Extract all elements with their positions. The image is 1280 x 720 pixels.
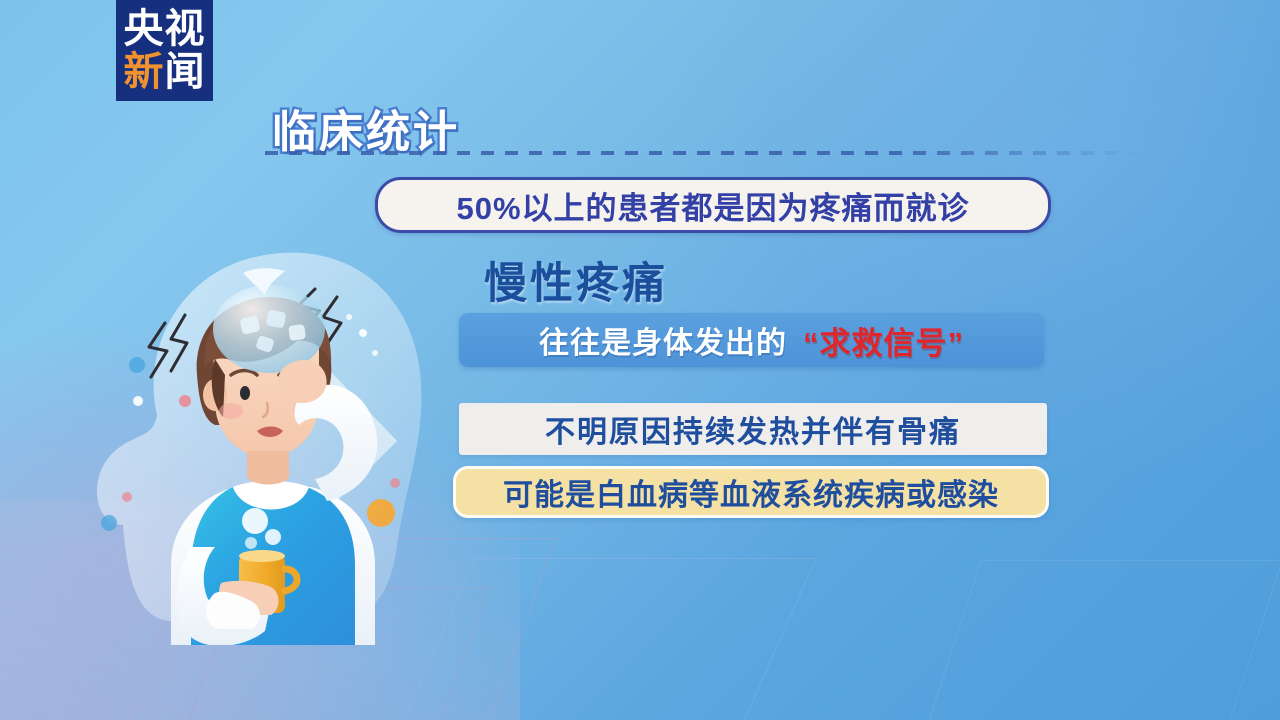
cctv-news-logo: 央视 新闻 — [116, 0, 213, 101]
illustration-person-headache — [75, 225, 475, 645]
statistic-pill: 50%以上的患者都是因为疼痛而就诊 — [375, 177, 1051, 233]
logo-char-wen: 闻 — [165, 52, 206, 92]
title-dashed-divider — [265, 151, 1140, 155]
banner-yellow-text: 可能是白血病等血液系统疾病或感染 — [503, 470, 999, 514]
cheek-left — [219, 403, 243, 419]
steam-3 — [245, 537, 257, 549]
decor-dot-white-2 — [359, 329, 367, 337]
steam-2 — [265, 529, 281, 545]
message-banner-gray: 不明原因持续发热并伴有骨痛 — [459, 403, 1047, 455]
logo-line-xinwen: 新闻 — [124, 52, 206, 92]
eye-left — [240, 386, 250, 400]
neck — [247, 451, 289, 485]
decor-dot-pink-1 — [179, 395, 191, 407]
banner-gray-text: 不明原因持续发热并伴有骨痛 — [545, 407, 961, 451]
decor-dot-pink-3 — [390, 478, 400, 488]
message-banner-yellow: 可能是白血病等血液系统疾病或感染 — [453, 466, 1049, 518]
statistic-text: 50%以上的患者都是因为疼痛而就诊 — [456, 183, 969, 228]
ice-cube-2 — [266, 310, 287, 329]
ice-bag — [213, 285, 325, 373]
banner-blue-primary-text: 往往是身体发出的 — [539, 318, 787, 362]
background-glow-top-right — [680, 0, 1280, 470]
decor-dot-white-4 — [346, 314, 352, 320]
decor-dot-pink-2 — [122, 492, 132, 502]
decor-dot-blue-1 — [129, 357, 145, 373]
broadcast-graphic-frame: 央视 新闻 — [0, 0, 1280, 720]
decor-dot-blue-2 — [101, 515, 117, 531]
decor-dot-orange-1 — [367, 499, 395, 527]
section-subtitle: 慢性疼痛 — [484, 249, 668, 311]
hand-on-head — [278, 360, 327, 403]
decor-dot-white-3 — [372, 350, 378, 356]
decor-dot-white-1 — [133, 396, 143, 406]
ice-cube-3 — [288, 324, 306, 341]
message-banner-blue: 往往是身体发出的 “求救信号” — [459, 313, 1044, 367]
logo-line-yangshi: 央视 — [124, 9, 206, 49]
logo-char-xin: 新 — [124, 52, 165, 92]
mug-rim — [239, 550, 285, 562]
steam-1 — [242, 508, 268, 534]
banner-blue-highlight-text: “求救信号” — [803, 318, 964, 363]
background-geometric-line-5 — [915, 560, 1280, 720]
